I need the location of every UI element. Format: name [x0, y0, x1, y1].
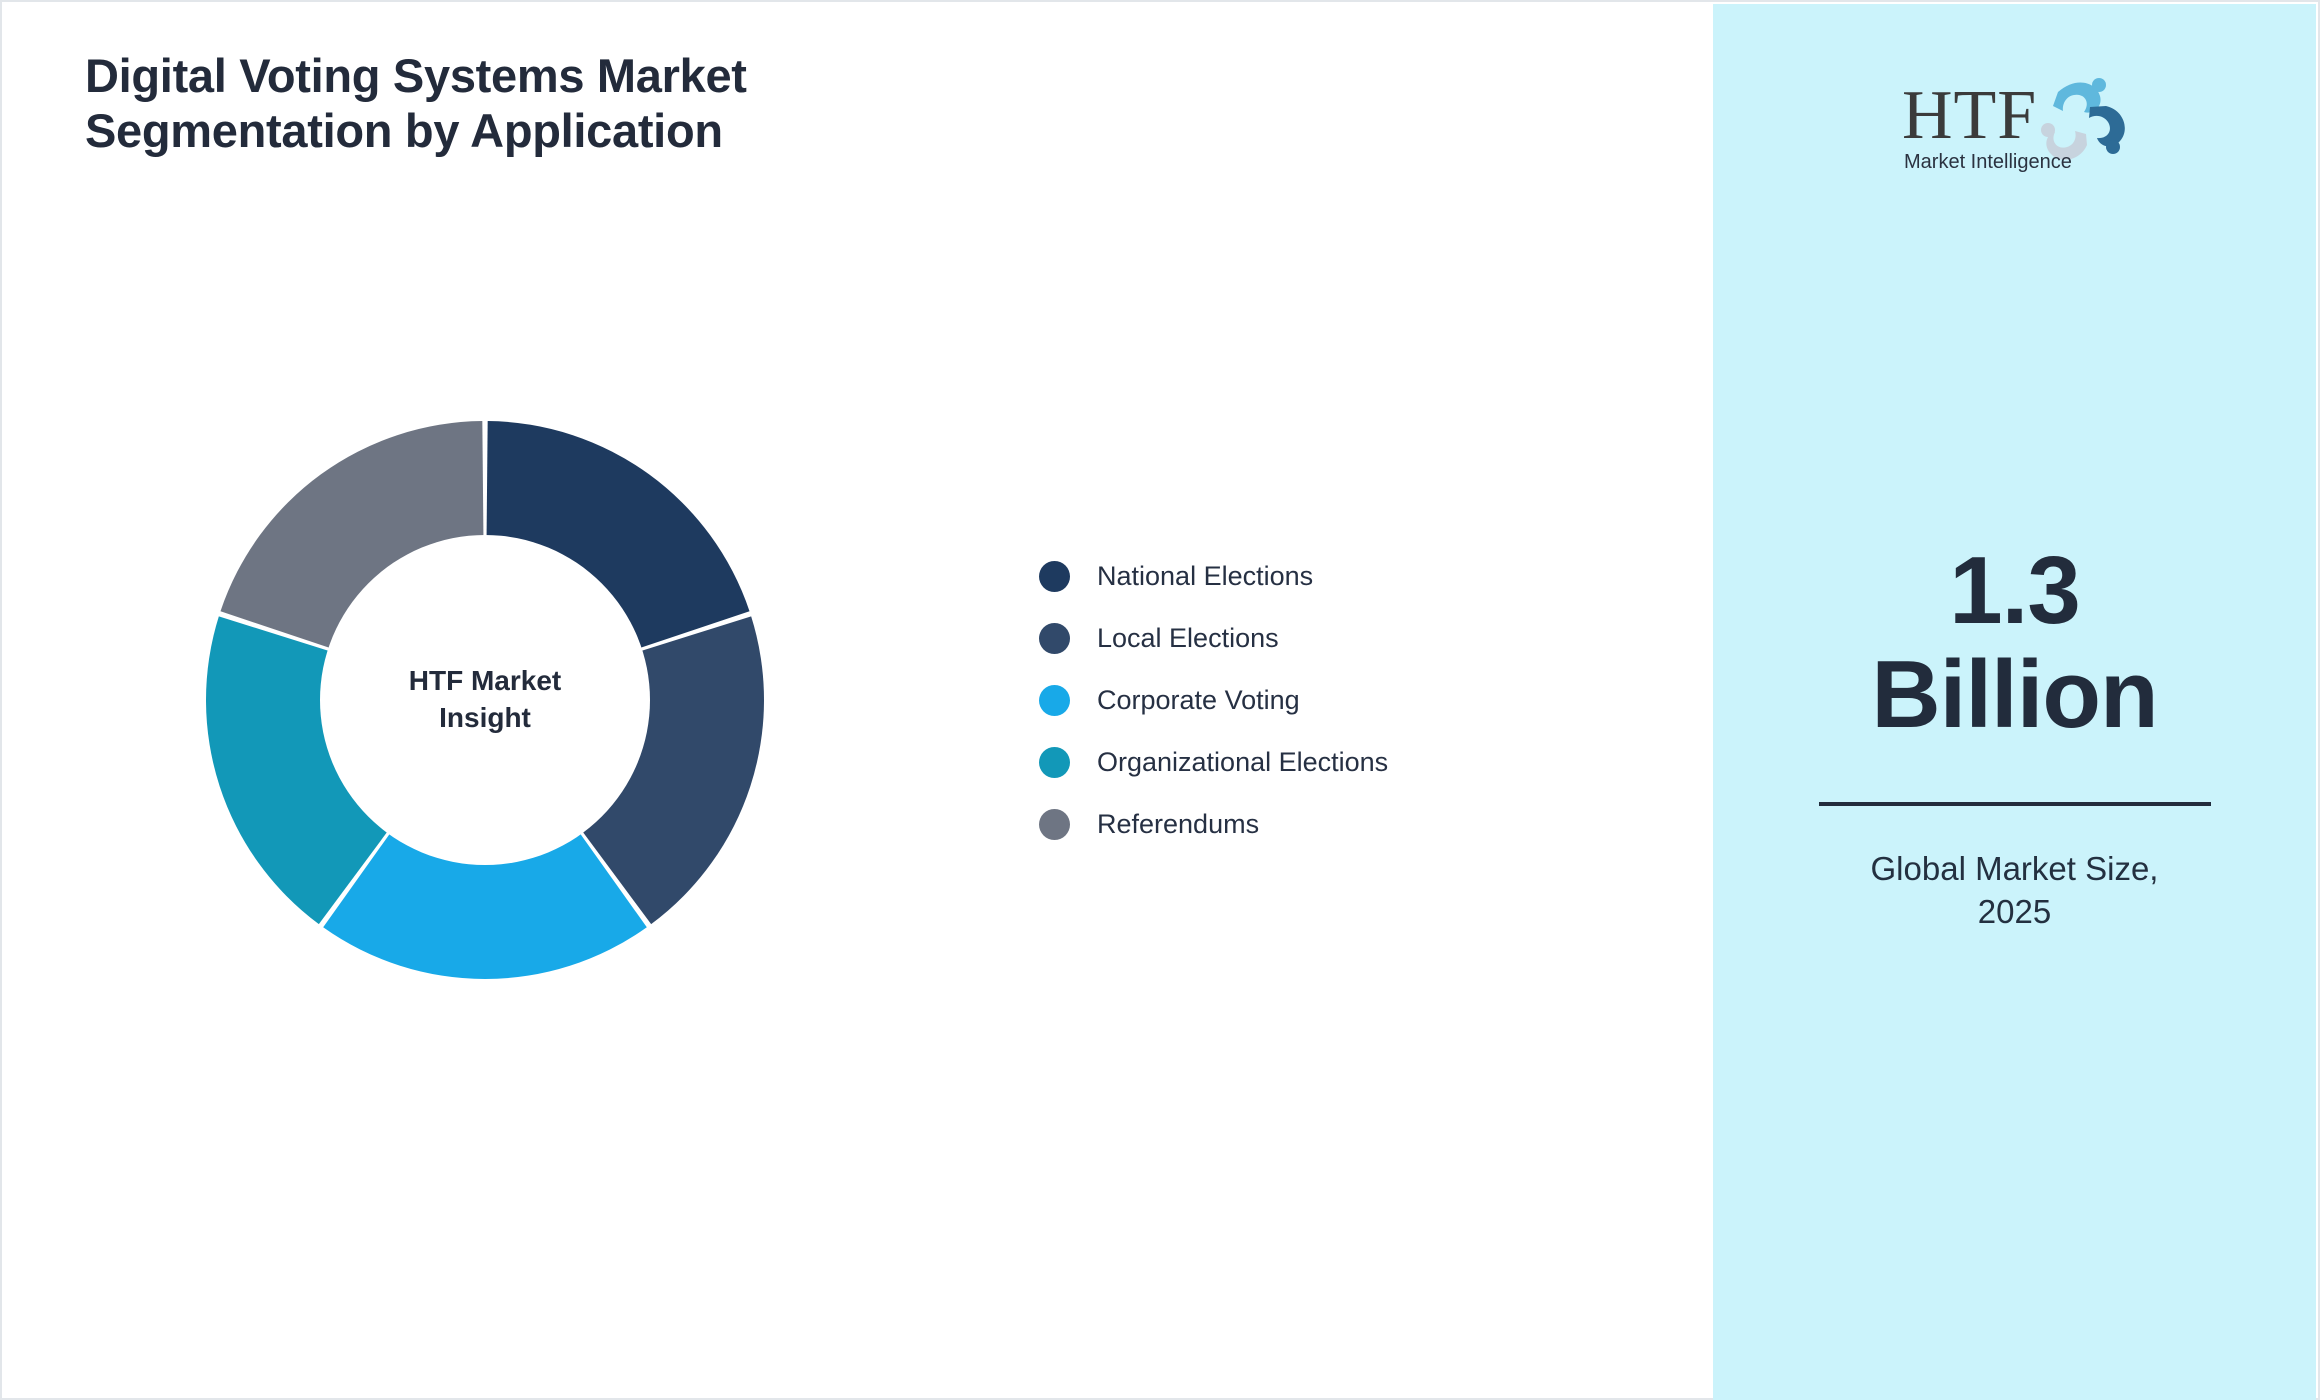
legend-item[interactable]: Referendums	[1039, 803, 1388, 845]
htf-logo: HTF Market Intelligence	[1890, 62, 2140, 177]
legend-swatch-icon	[1039, 561, 1070, 592]
market-size-stat: 1.3 Billion Global Market Size, 2025	[1785, 539, 2245, 934]
chart-legend: National ElectionsLocal ElectionsCorpora…	[1039, 555, 1388, 845]
stat-value-line-1: 1.3	[1785, 539, 2245, 643]
stat-divider	[1819, 802, 2211, 806]
legend-item-label: Organizational Elections	[1097, 749, 1388, 776]
legend-item-label: Corporate Voting	[1097, 687, 1300, 714]
legend-item[interactable]: Local Elections	[1039, 617, 1388, 659]
donut-chart-svg	[206, 421, 764, 979]
legend-item[interactable]: National Elections	[1039, 555, 1388, 597]
chart-panel: Digital Voting Systems Market Segmentati…	[2, 2, 1715, 1398]
donut-chart: HTF Market Insight	[206, 421, 764, 979]
legend-swatch-icon	[1039, 685, 1070, 716]
page-title-line-2: Segmentation by Application	[85, 103, 985, 158]
legend-item[interactable]: Corporate Voting	[1039, 679, 1388, 721]
svg-text:Market Intelligence: Market Intelligence	[1904, 151, 2072, 173]
infographic-page: Digital Voting Systems Market Segmentati…	[0, 0, 2320, 1400]
legend-item-label: Referendums	[1097, 811, 1259, 838]
page-title-line-1: Digital Voting Systems Market	[85, 48, 985, 103]
people-swirl-icon	[2041, 78, 2125, 160]
stat-caption: Global Market Size, 2025	[1785, 848, 2245, 934]
stat-caption-line-1: Global Market Size,	[1785, 848, 2245, 891]
svg-text:HTF: HTF	[1902, 77, 2037, 154]
stat-value-line-2: Billion	[1785, 643, 2245, 747]
page-title: Digital Voting Systems Market Segmentati…	[85, 48, 985, 159]
legend-swatch-icon	[1039, 623, 1070, 654]
stat-value: 1.3 Billion	[1785, 539, 2245, 746]
legend-item-label: National Elections	[1097, 563, 1313, 590]
legend-swatch-icon	[1039, 747, 1070, 778]
donut-hole	[320, 535, 650, 865]
legend-item[interactable]: Organizational Elections	[1039, 741, 1388, 783]
stat-sidebar: HTF Market Intelligence 1.3 Billion	[1713, 4, 2316, 1400]
stat-caption-line-2: 2025	[1785, 891, 2245, 934]
legend-item-label: Local Elections	[1097, 625, 1279, 652]
htf-logo-icon: HTF Market Intelligence	[1890, 62, 2140, 177]
legend-swatch-icon	[1039, 809, 1070, 840]
